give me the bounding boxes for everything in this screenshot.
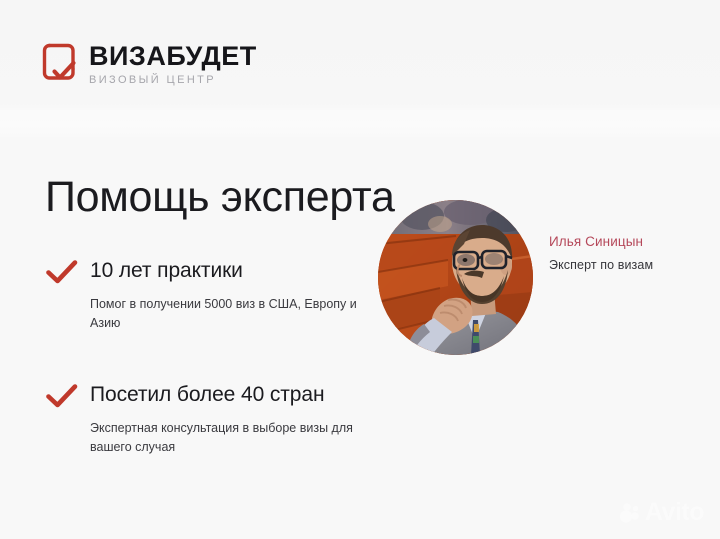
avito-watermark: Avito bbox=[619, 500, 704, 525]
list-item: 10 лет практики Помог в получении 5000 в… bbox=[46, 258, 376, 334]
avito-watermark-text: Avito bbox=[645, 500, 704, 525]
document-check-icon bbox=[41, 42, 77, 86]
benefits-list: 10 лет практики Помог в получении 5000 в… bbox=[46, 258, 376, 458]
brand-logo: ВИЗАБУДЕТ ВИЗОВЫЙ ЦЕНТР bbox=[41, 41, 257, 87]
brand-tagline: ВИЗОВЫЙ ЦЕНТР bbox=[89, 74, 257, 87]
expert-caption: Илья Синицын Эксперт по визам bbox=[549, 233, 699, 273]
brand-logo-text: ВИЗАБУДЕТ ВИЗОВЫЙ ЦЕНТР bbox=[89, 41, 257, 87]
benefit-heading-row: 10 лет практики bbox=[46, 258, 376, 285]
expert-name: Илья Синицын bbox=[549, 233, 699, 251]
benefit-title: 10 лет практики bbox=[90, 258, 243, 284]
benefit-heading-row: Посетил более 40 стран bbox=[46, 382, 376, 409]
brand-name: ВИЗАБУДЕТ bbox=[89, 43, 257, 71]
benefit-description: Помог в получении 5000 виз в США, Европу… bbox=[90, 295, 370, 334]
check-icon bbox=[46, 383, 78, 409]
check-icon bbox=[46, 259, 78, 285]
avito-dots-icon bbox=[619, 502, 641, 524]
benefit-description: Экспертная консультация в выборе визы дл… bbox=[90, 419, 370, 458]
page-title: Помощь эксперта bbox=[45, 175, 395, 220]
slide-canvas: ВИЗАБУДЕТ ВИЗОВЫЙ ЦЕНТР Помощь эксперта … bbox=[0, 0, 720, 539]
benefit-title: Посетил более 40 стран bbox=[90, 382, 324, 408]
list-item: Посетил более 40 стран Экспертная консул… bbox=[46, 382, 376, 458]
expert-role: Эксперт по визам bbox=[549, 257, 699, 273]
expert-avatar bbox=[378, 200, 533, 355]
